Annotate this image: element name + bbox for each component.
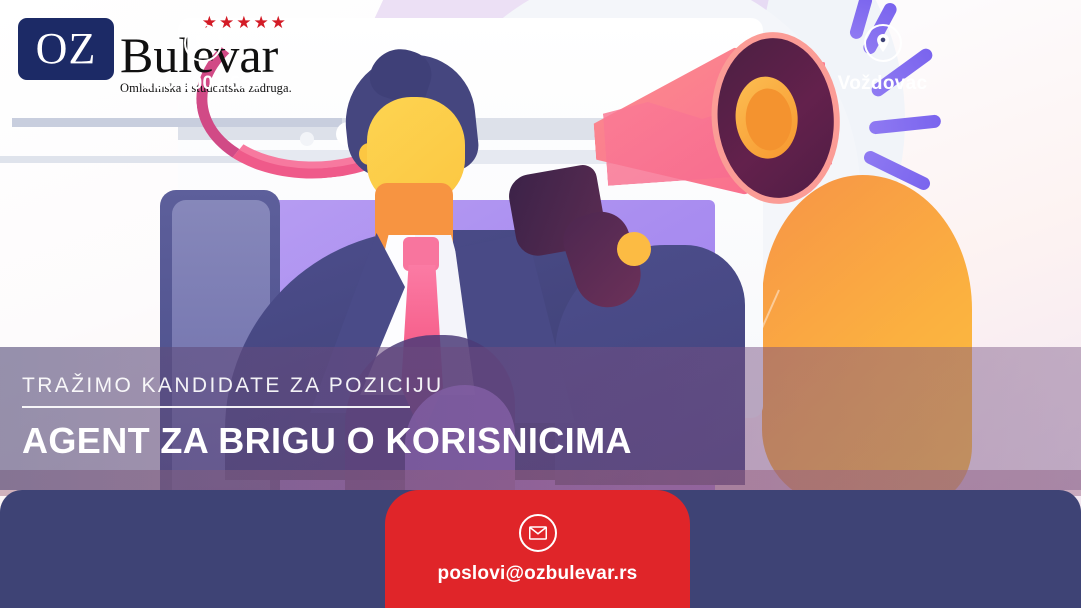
kicker-text: TRAŽIMO KANDIDATE ZA POZICIJU bbox=[22, 374, 444, 398]
map-pin-icon bbox=[864, 24, 902, 62]
envelope-icon bbox=[519, 514, 557, 552]
contact-location[interactable]: Voždovac bbox=[740, 0, 1025, 118]
decorative-grey-bar-secondary bbox=[0, 156, 250, 163]
contact-email-card[interactable]: poslovi@ozbulevar.rs bbox=[385, 490, 690, 608]
phone-icon bbox=[184, 24, 222, 62]
job-title-headline: AGENT ZA BRIGU O KORISNICIMA bbox=[22, 420, 632, 462]
email-address: poslovi@ozbulevar.rs bbox=[438, 563, 638, 585]
kicker-divider bbox=[22, 406, 410, 408]
thumb bbox=[617, 232, 651, 266]
job-ad-poster: OZ ★★★★★ Bulevar Omladinska i studentska… bbox=[0, 0, 1081, 608]
phone-number: 060 6001 655 bbox=[143, 73, 263, 95]
contact-phone[interactable]: 060 6001 655 bbox=[60, 0, 345, 118]
location-name: Voždovac bbox=[838, 73, 928, 95]
headline-band bbox=[0, 347, 1081, 490]
